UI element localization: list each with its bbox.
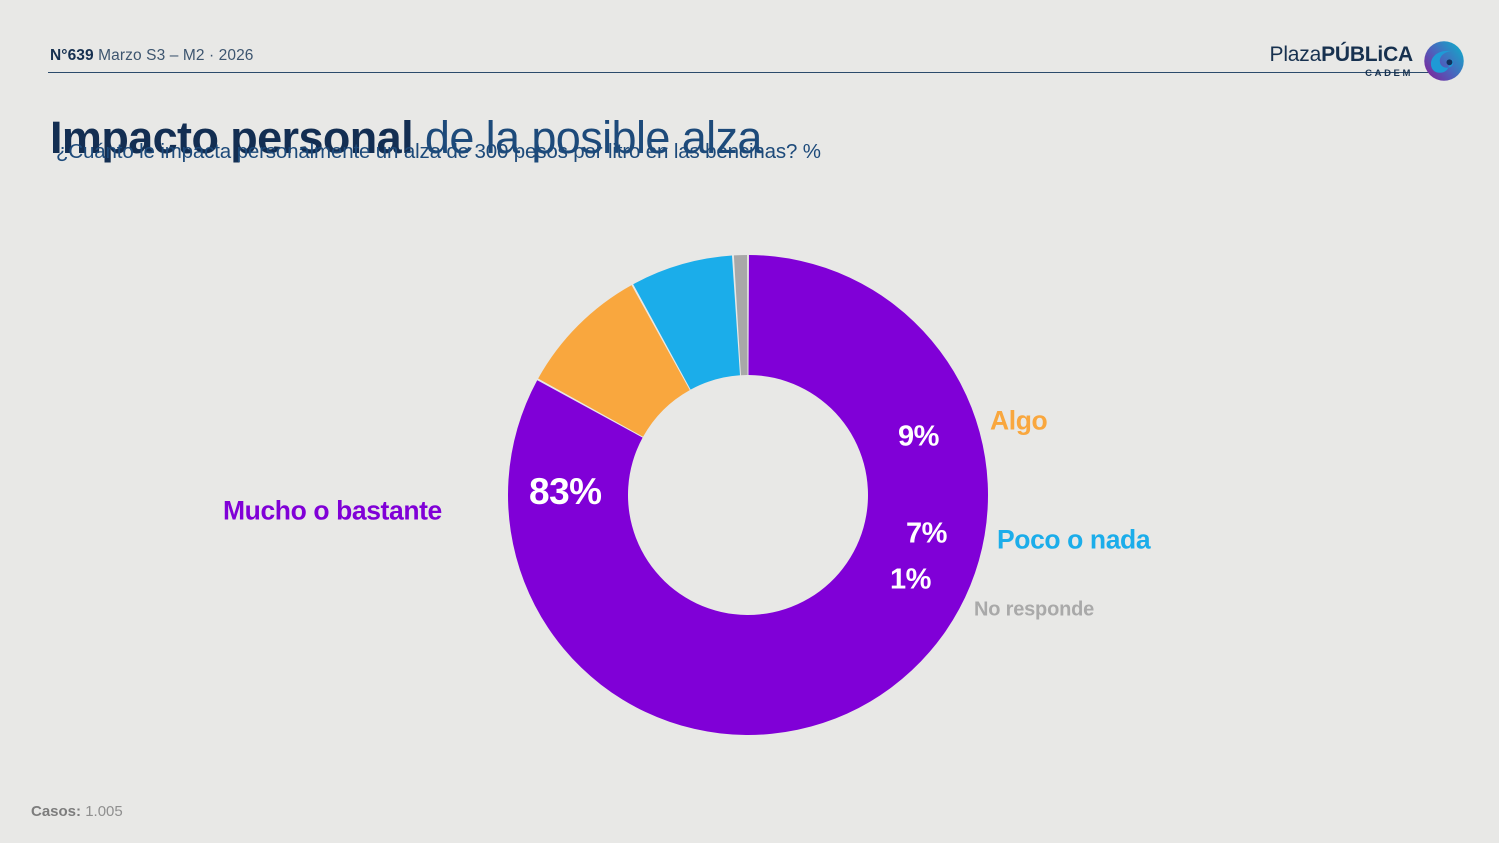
page-header: N°639 Marzo S3 – M2 · 2026 PlazaPÚBLiCA …: [0, 0, 1499, 80]
cadem-circle-logo-icon: [1423, 40, 1465, 82]
brand-word-plaza: Plaza: [1270, 43, 1322, 66]
footer-cases-value: 1.005: [85, 803, 123, 820]
slice-label-algo: Algo: [990, 406, 1047, 437]
brand-subtitle-cadem: CADEM: [1365, 69, 1413, 79]
issue-number: N°639: [50, 47, 94, 64]
brand-word-publica: PÚBLiCA: [1321, 43, 1413, 66]
brand-logo[interactable]: PlazaPÚBLiCA CADEM: [1270, 40, 1465, 82]
slice-value-no-responde: 1%: [890, 564, 931, 597]
header-divider: [48, 72, 1451, 73]
slice-label-no-responde: No responde: [974, 599, 1094, 622]
issue-line: N°639 Marzo S3 – M2 · 2026: [50, 47, 254, 65]
issue-period: Marzo S3 – M2 · 2026: [94, 47, 254, 64]
brand-wordmark: PlazaPÚBLiCA: [1270, 44, 1413, 65]
footer-cases-label: Casos: [31, 803, 76, 820]
slice-label-poco-o-nada: Poco o nada: [997, 525, 1150, 556]
page-subtitle: ¿Cuánto le impacta personalmente un alza…: [56, 140, 821, 164]
footer-cases-separator: :: [76, 803, 85, 820]
slice-value-mucho-o-bastante: 83%: [529, 471, 602, 513]
brand-logo-text: PlazaPÚBLiCA CADEM: [1270, 44, 1413, 79]
slice-value-algo: 9%: [898, 421, 939, 454]
footer-cases: Casos: 1.005: [31, 803, 123, 820]
slice-value-poco-o-nada: 7%: [906, 518, 947, 551]
